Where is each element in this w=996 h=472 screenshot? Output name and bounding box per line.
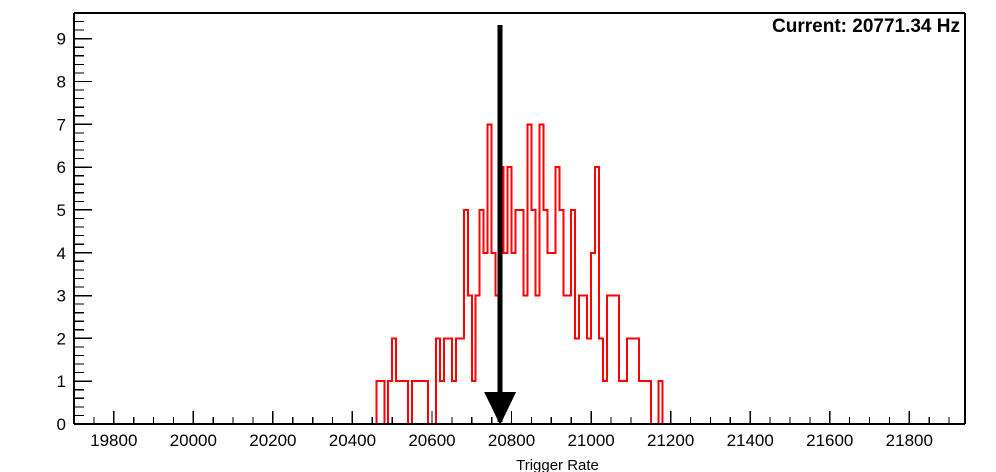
x-tick-label: 20600 <box>408 431 455 450</box>
y-tick-label: 3 <box>57 287 66 306</box>
y-tick-label: 4 <box>57 244 66 263</box>
x-tick-label: 21200 <box>647 431 694 450</box>
x-axis-ticks <box>74 411 949 424</box>
trigger-rate-histogram: 0123456789 19800200002020020400206002080… <box>0 0 996 472</box>
x-tick-label: 21400 <box>727 431 774 450</box>
x-tick-label: 20000 <box>170 431 217 450</box>
y-tick-label: 6 <box>57 158 66 177</box>
y-tick-label: 9 <box>57 30 66 49</box>
y-tick-label: 1 <box>57 372 66 391</box>
y-axis-ticks <box>74 13 92 424</box>
y-tick-label: 5 <box>57 201 66 220</box>
y-tick-label: 7 <box>57 115 66 134</box>
x-axis-title: Trigger Rate <box>516 457 599 472</box>
x-tick-label: 20200 <box>249 431 296 450</box>
histogram-outline <box>74 124 965 424</box>
x-tick-label: 21000 <box>567 431 614 450</box>
x-tick-label: 21800 <box>886 431 933 450</box>
y-tick-label: 0 <box>57 415 66 434</box>
y-tick-label: 8 <box>57 73 66 92</box>
x-tick-label: 21600 <box>806 431 853 450</box>
y-axis-tick-labels: 0123456789 <box>57 30 66 434</box>
current-rate-readout: Current: 20771.34 Hz <box>772 16 960 38</box>
x-axis-tick-labels: 1980020000202002040020600208002100021200… <box>90 431 933 450</box>
histogram-panel: 0123456789 19800200002020020400206002080… <box>0 0 996 472</box>
x-tick-label: 20400 <box>329 431 376 450</box>
x-tick-label: 19800 <box>90 431 137 450</box>
x-tick-label: 20800 <box>488 431 535 450</box>
y-tick-label: 2 <box>57 329 66 348</box>
